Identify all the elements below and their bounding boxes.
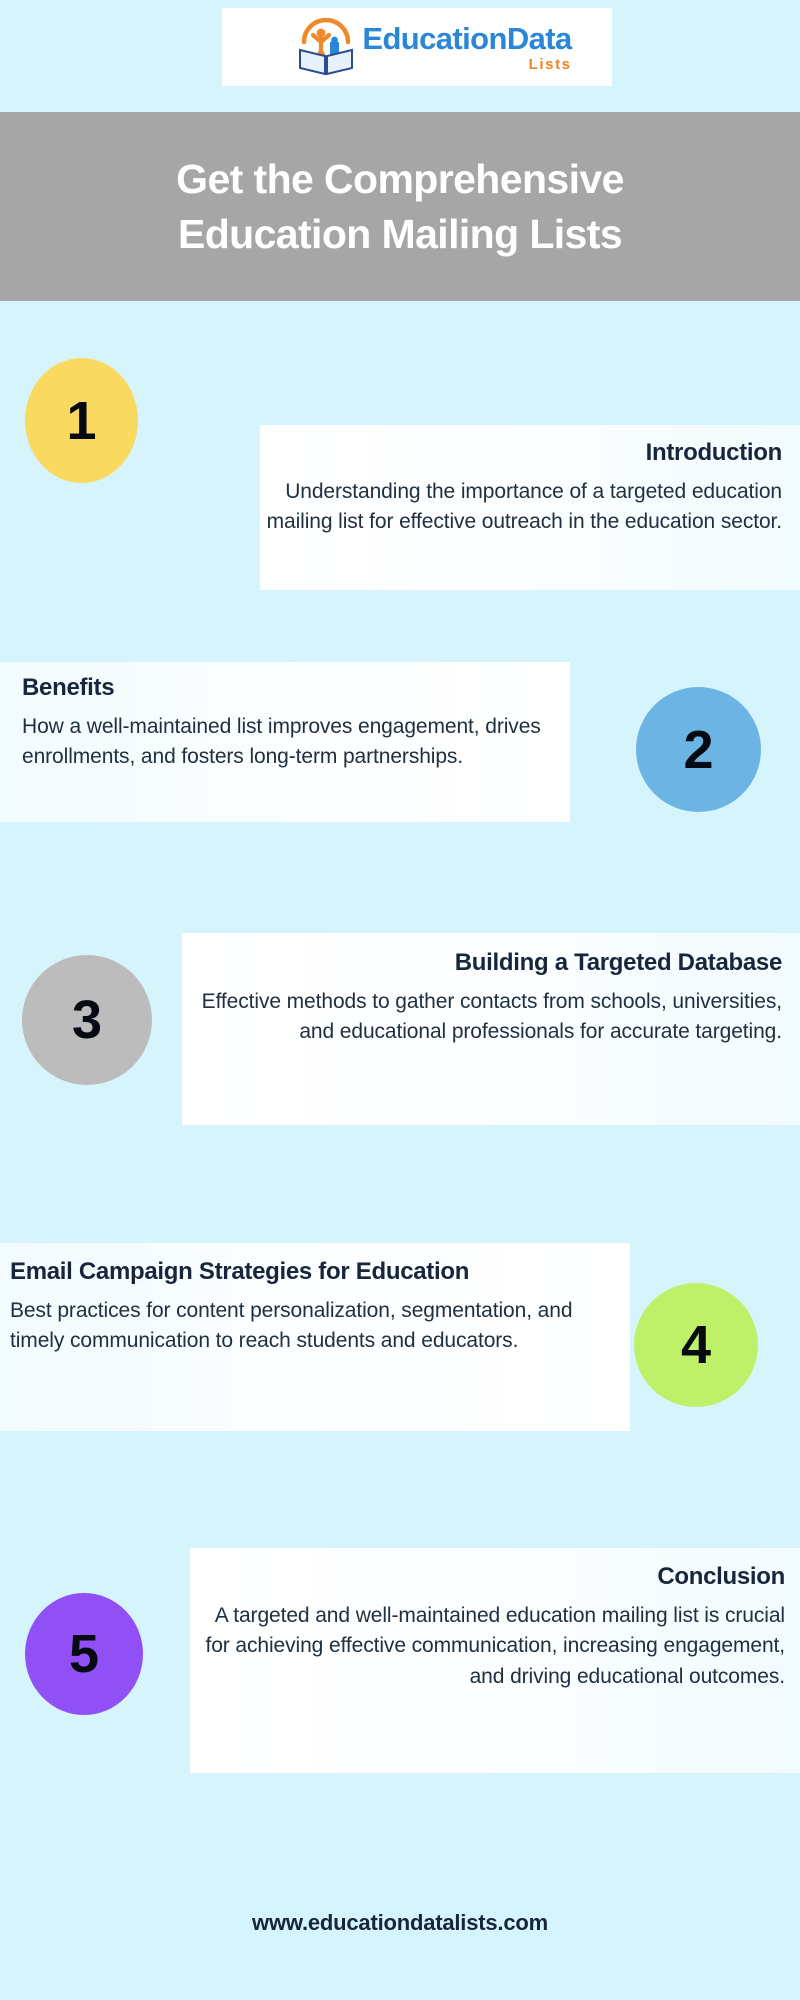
book-with-person-logo-icon (296, 18, 356, 76)
header-banner: Get the Comprehensive Education Mailing … (0, 112, 800, 301)
brand-logo[interactable]: EducationData Lists (222, 8, 612, 86)
footer: www.educationdatalists.com (0, 1880, 800, 2000)
section-4-number-badge: 4 (634, 1283, 758, 1407)
section-4-number: 4 (681, 1318, 711, 1372)
section-2-number-badge: 2 (636, 687, 761, 812)
website-url[interactable]: www.educationdatalists.com (252, 1910, 548, 1936)
brand-wordmark: EducationData Lists (362, 23, 571, 72)
section-1-number-badge: 1 (25, 358, 138, 483)
section-3-text: Building a Targeted Database Effective m… (190, 948, 782, 1048)
section-5-number-badge: 5 (25, 1593, 143, 1715)
section-2-body: How a well-maintained list improves enga… (22, 712, 567, 773)
page-title-line-2: Education Mailing Lists (178, 210, 622, 258)
section-2-number: 2 (683, 723, 713, 777)
section-3-title: Building a Targeted Database (190, 948, 782, 978)
logo-primary-label: EducationData (362, 21, 571, 56)
section-1-number: 1 (66, 394, 96, 448)
section-5-title: Conclusion (195, 1562, 785, 1592)
infographic-page: EducationData Lists Get the Comprehensiv… (0, 0, 800, 2000)
section-4-title: Email Campaign Strategies for Education (10, 1257, 620, 1287)
section-2-title: Benefits (22, 673, 567, 703)
section-2-text: Benefits How a well-maintained list impr… (22, 673, 567, 773)
section-1-body: Understanding the importance of a target… (250, 477, 782, 538)
section-4-text: Email Campaign Strategies for Education … (10, 1257, 620, 1357)
logo-secondary-label: Lists (362, 57, 571, 72)
section-1-text: Introduction Understanding the importanc… (250, 438, 782, 538)
section-5-text: Conclusion A targeted and well-maintaine… (195, 1562, 785, 1692)
page-title-line-1: Get the Comprehensive (176, 155, 624, 203)
logo-bar: EducationData Lists (0, 0, 800, 112)
section-4-body: Best practices for content personalizati… (10, 1296, 620, 1357)
section-3-number-badge: 3 (22, 955, 152, 1085)
logo-primary-text: EducationData (362, 23, 571, 54)
section-3-number: 3 (72, 993, 102, 1047)
section-5-body: A targeted and well-maintained education… (195, 1601, 785, 1692)
section-5-number: 5 (69, 1627, 99, 1681)
section-1-title: Introduction (250, 438, 782, 468)
section-3-body: Effective methods to gather contacts fro… (190, 987, 782, 1048)
